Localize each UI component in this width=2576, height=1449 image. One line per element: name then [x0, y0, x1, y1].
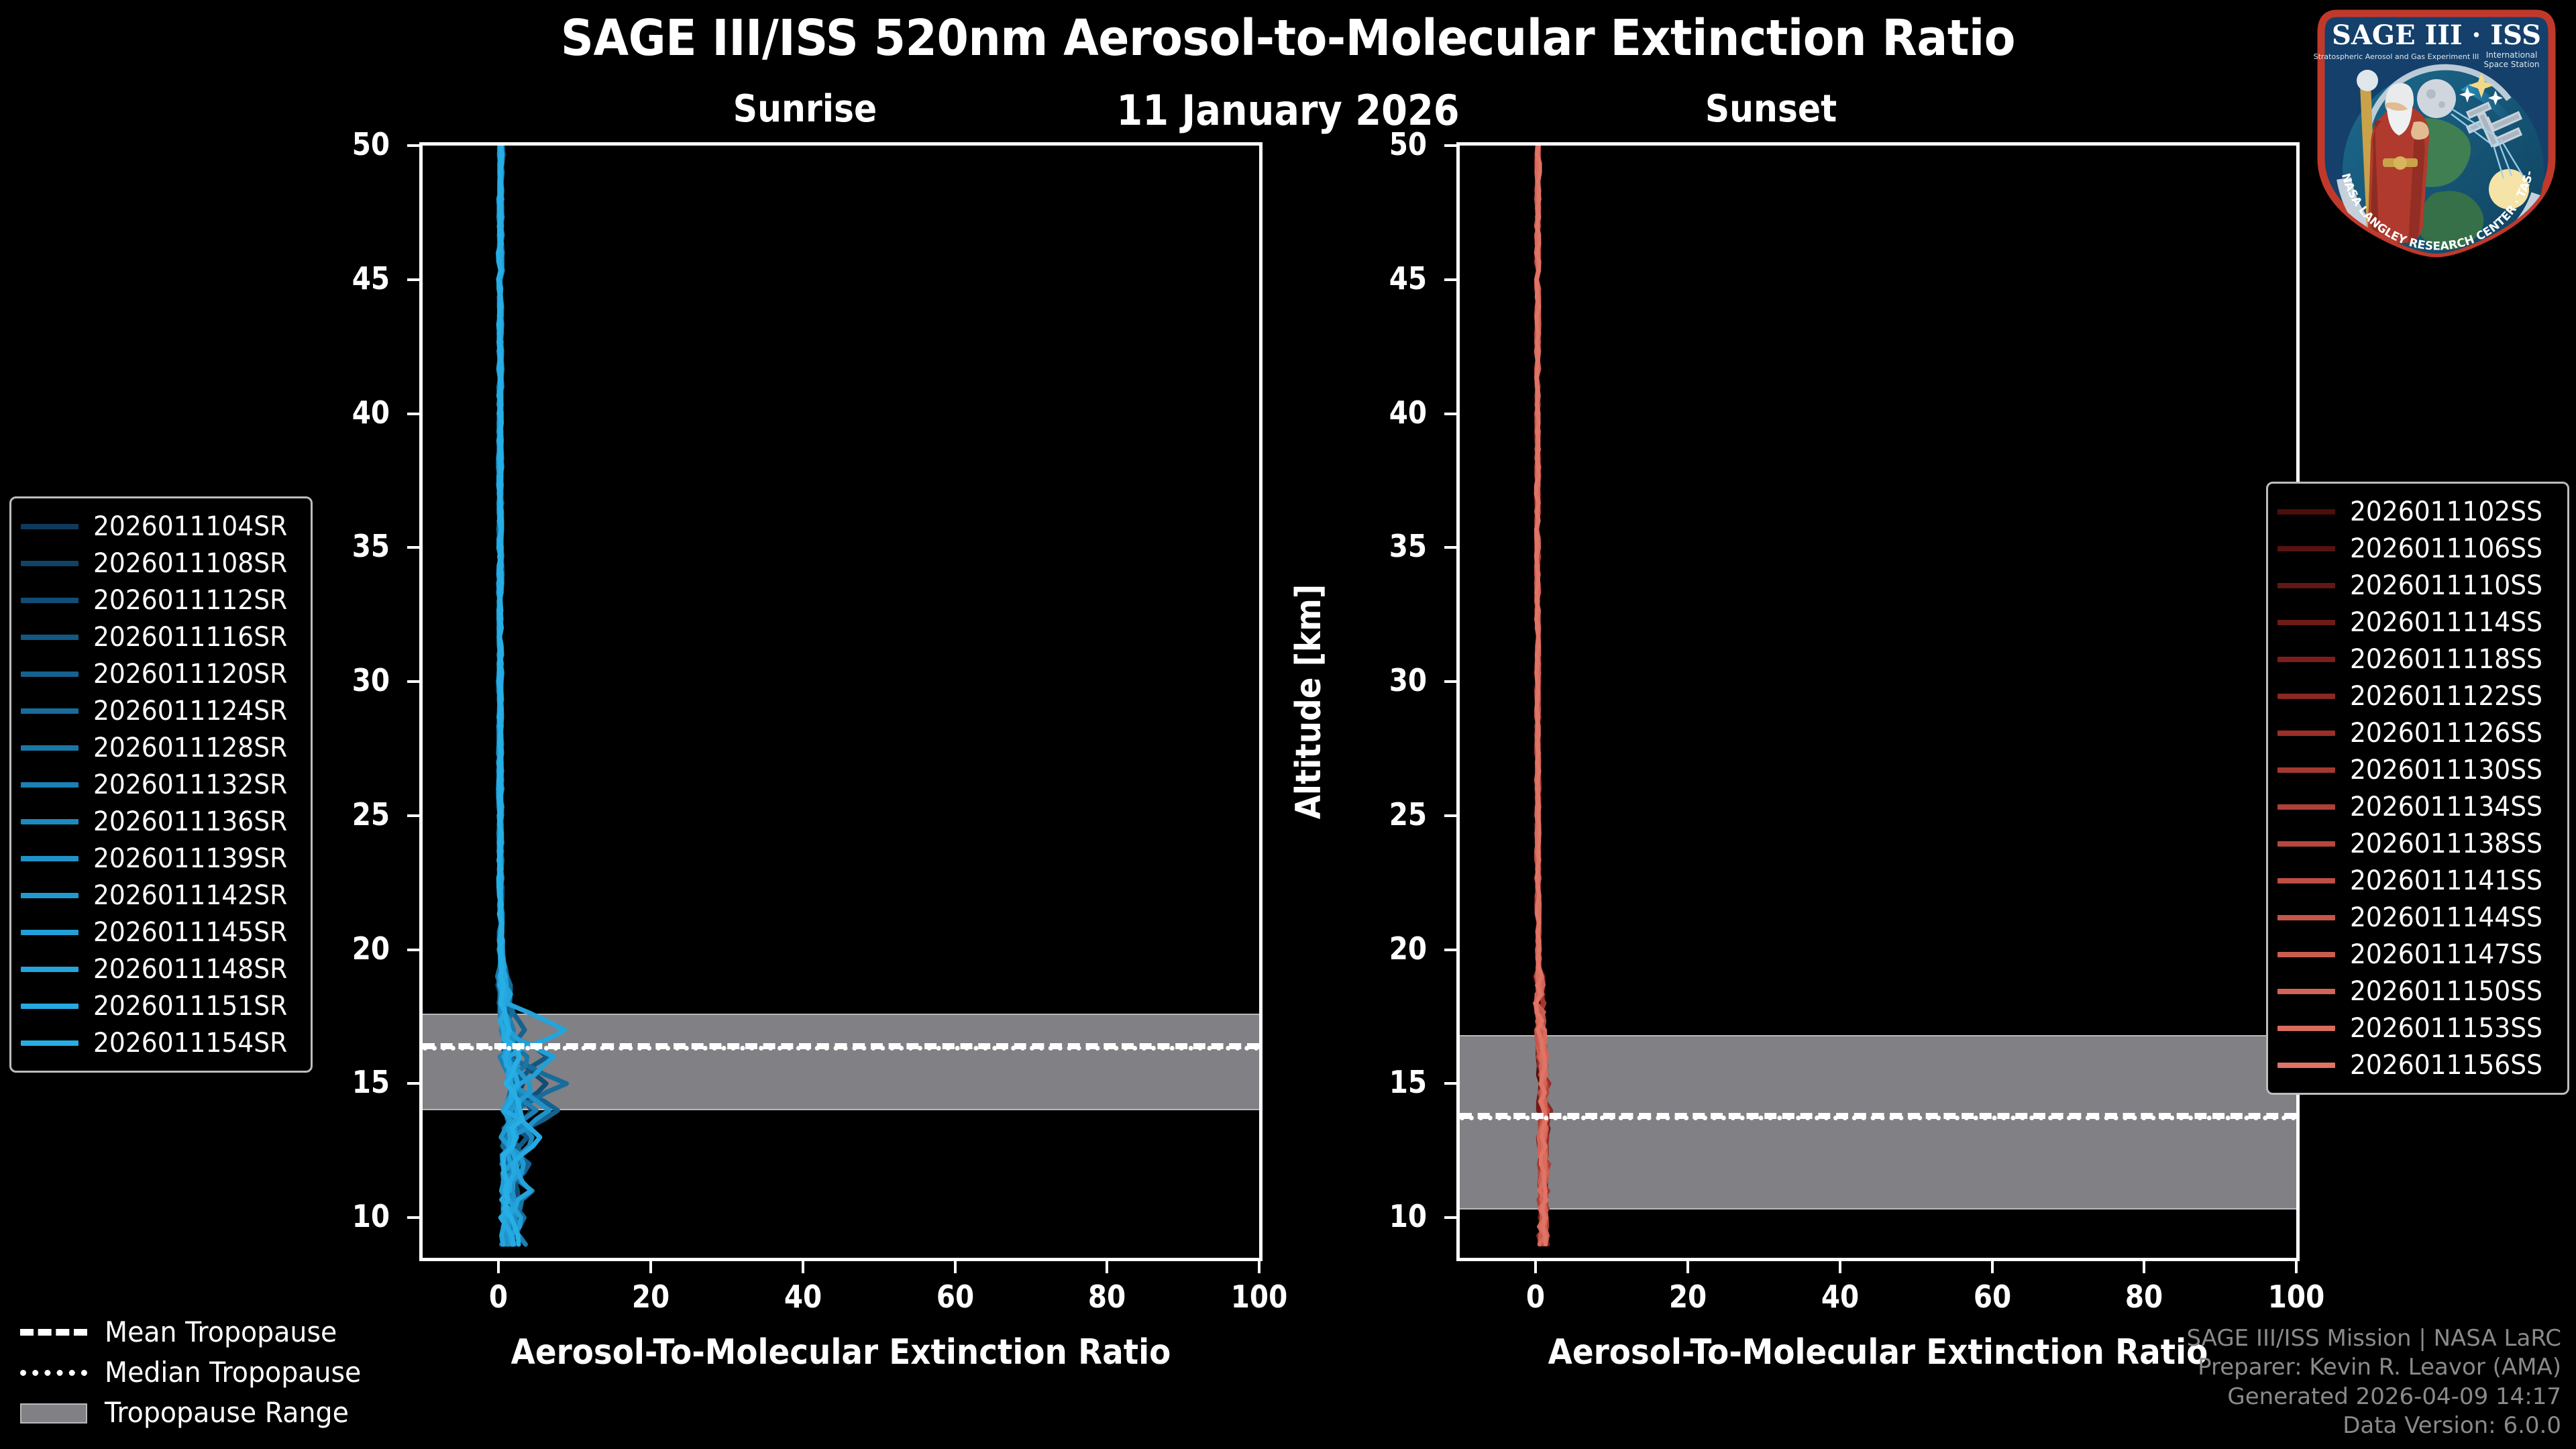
legend-color-swatch	[21, 745, 78, 751]
x-tickmark	[497, 1261, 500, 1273]
x-axis-title: Aerosol-To-Molecular Extinction Ratio	[1499, 1332, 2257, 1373]
y-tickmark	[1444, 949, 1456, 951]
y-tick-label: 35	[1329, 528, 1427, 564]
legend-item-label: 2026011139SR	[93, 843, 287, 874]
y-tick-label: 40	[292, 394, 390, 431]
legend-item-label: 2026011147SS	[2350, 939, 2542, 970]
x-axis-title: Aerosol-To-Molecular Extinction Ratio	[462, 1332, 1220, 1373]
x-tick-label: 40	[755, 1279, 850, 1315]
y-tick-label: 45	[292, 260, 390, 297]
legend-item-label: 2026011124SR	[93, 696, 287, 727]
median-tropopause-line	[1460, 1116, 2296, 1120]
legend-item[interactable]: 2026011148SR	[21, 951, 300, 987]
legend-color-swatch	[21, 930, 78, 935]
x-tick-label: 100	[2249, 1279, 2344, 1315]
legend-sunrise[interactable]: 2026011104SR2026011108SR2026011112SR2026…	[9, 496, 313, 1073]
series-layer	[1460, 146, 2296, 1258]
legend-color-swatch	[2277, 657, 2335, 662]
legend-color-swatch	[21, 708, 78, 714]
y-tick-label: 50	[1329, 126, 1427, 162]
legend-item-label: 2026011151SR	[93, 991, 287, 1022]
x-tick-label: 80	[2097, 1279, 2192, 1315]
legend-tropopause: Mean TropopauseMedian TropopauseTropopau…	[20, 1311, 396, 1432]
logo-title: SAGE III · ISS	[2332, 19, 2541, 51]
x-tick-label: 0	[451, 1279, 546, 1315]
legend-color-swatch	[21, 782, 78, 788]
legend-item[interactable]: 2026011134SS	[2277, 788, 2557, 825]
legend-item[interactable]: 2026011118SS	[2277, 641, 2557, 678]
legend-color-swatch	[21, 635, 78, 640]
credits-block: SAGE III/ISS Mission | NASA LaRC Prepare…	[2186, 1324, 2561, 1441]
x-tickmark	[1106, 1261, 1108, 1273]
legend-item[interactable]: 2026011151SR	[21, 987, 300, 1024]
legend-item-label: 2026011153SS	[2350, 1013, 2542, 1044]
x-tickmark	[649, 1261, 652, 1273]
y-tickmark	[1444, 680, 1456, 683]
y-tick-label: 30	[1329, 662, 1427, 698]
legend-item[interactable]: 2026011124SR	[21, 692, 300, 729]
legend-item[interactable]: 2026011138SS	[2277, 825, 2557, 862]
legend-item[interactable]: 2026011102SS	[2277, 493, 2557, 530]
legend-item-label: 2026011138SS	[2350, 828, 2542, 859]
legend-item-label: 2026011112SR	[93, 585, 287, 616]
y-tickmark	[1444, 144, 1456, 147]
legend-item[interactable]: 2026011132SR	[21, 766, 300, 803]
x-tick-label: 60	[908, 1279, 1002, 1315]
y-tickmark	[407, 413, 419, 415]
legend-item[interactable]: 2026011142SR	[21, 877, 300, 914]
x-tick-label: 40	[1792, 1279, 1887, 1315]
legend-item-label: 2026011134SS	[2350, 792, 2542, 822]
series-line	[498, 146, 540, 1244]
y-tickmark	[1444, 413, 1456, 415]
plot-area-sunrise	[419, 142, 1263, 1261]
x-tickmark	[1686, 1261, 1689, 1273]
legend-item[interactable]: 2026011130SS	[2277, 751, 2557, 788]
legend-item-label: 2026011150SS	[2350, 976, 2542, 1007]
x-tickmark	[1839, 1261, 1841, 1273]
legend-item[interactable]: 2026011150SS	[2277, 973, 2557, 1010]
sage-iii-iss-logo-icon: SAGE III · ISS Stratospheric Aerosol and…	[2302, 3, 2571, 258]
legend-color-swatch	[2277, 841, 2335, 847]
legend-item[interactable]: 2026011122SS	[2277, 678, 2557, 714]
logo-subtitle-left: Stratospheric Aerosol and Gas Experiment…	[2314, 52, 2479, 61]
x-tickmark	[1534, 1261, 1537, 1273]
legend-color-swatch	[2277, 767, 2335, 773]
legend-item[interactable]: 2026011141SS	[2277, 862, 2557, 899]
legend-item[interactable]: 2026011139SR	[21, 840, 300, 877]
dotted-line-icon	[20, 1363, 87, 1381]
legend-item-label: 2026011141SS	[2350, 865, 2542, 896]
legend-item[interactable]: 2026011144SS	[2277, 899, 2557, 936]
y-axis-title: Altitude [km]	[1289, 575, 1329, 828]
legend-item-label: 2026011104SR	[93, 511, 287, 542]
y-tickmark	[407, 814, 419, 817]
median-tropopause-line	[423, 1046, 1259, 1051]
x-tickmark	[1991, 1261, 1994, 1273]
legend-item-label: 2026011122SS	[2350, 681, 2542, 712]
y-tickmark	[1444, 546, 1456, 549]
x-tickmark	[2295, 1261, 2298, 1273]
y-tick-label: 50	[292, 126, 390, 162]
series-layer	[423, 146, 1259, 1258]
credit-generated: Generated 2026-04-09 14:17	[2186, 1383, 2561, 1412]
legend-color-swatch	[21, 819, 78, 824]
legend-item-label: 2026011148SR	[93, 954, 287, 985]
plot-area-sunset	[1456, 142, 2300, 1261]
tropopause-legend-item: Mean Tropopause	[20, 1311, 396, 1352]
credit-data-version: Data Version: 6.0.0	[2186, 1411, 2561, 1441]
legend-color-swatch	[21, 1040, 78, 1046]
y-tickmark	[1444, 814, 1456, 817]
legend-item-label: 2026011156SS	[2350, 1050, 2542, 1081]
x-tick-label: 60	[1945, 1279, 2039, 1315]
legend-item[interactable]: 2026011114SS	[2277, 604, 2557, 641]
y-tickmark	[407, 949, 419, 951]
page-title: SAGE III/ISS 520nm Aerosol-to-Molecular …	[103, 9, 2473, 67]
legend-item-label: 2026011126SS	[2350, 718, 2542, 749]
legend-item[interactable]: 2026011126SS	[2277, 714, 2557, 751]
legend-item-label: 2026011128SR	[93, 733, 287, 763]
y-tick-label: 10	[292, 1198, 390, 1234]
legend-color-swatch	[21, 1004, 78, 1009]
legend-item[interactable]: 2026011145SR	[21, 914, 300, 951]
y-tickmark	[407, 1216, 419, 1219]
legend-color-swatch	[2277, 731, 2335, 736]
legend-color-swatch	[21, 856, 78, 861]
x-tickmark	[802, 1261, 804, 1273]
y-tickmark	[407, 144, 419, 147]
legend-item[interactable]: 2026011108SR	[21, 545, 300, 582]
y-tickmark	[407, 1082, 419, 1085]
x-tick-label: 0	[1489, 1279, 1583, 1315]
credit-preparer: Preparer: Kevin R. Leavor (AMA)	[2186, 1353, 2561, 1383]
legend-color-swatch	[2277, 878, 2335, 883]
y-tickmark	[1444, 1082, 1456, 1085]
legend-color-swatch	[2277, 1026, 2335, 1031]
legend-sunset[interactable]: 2026011102SS2026011106SS2026011110SS2026…	[2266, 482, 2569, 1095]
legend-color-swatch	[21, 672, 78, 677]
legend-color-swatch	[21, 561, 78, 566]
legend-item[interactable]: 2026011116SR	[21, 619, 300, 655]
legend-item-label: 2026011102SS	[2350, 496, 2542, 527]
legend-color-swatch	[2277, 620, 2335, 625]
logo-subtitle-right-1: International	[2486, 50, 2538, 60]
x-tick-label: 100	[1212, 1279, 1307, 1315]
legend-item-label: 2026011106SS	[2350, 533, 2542, 564]
legend-item-label: 2026011118SS	[2350, 644, 2542, 675]
legend-item[interactable]: 2026011104SR	[21, 508, 300, 545]
x-tick-label: 20	[1641, 1279, 1735, 1315]
tropopause-legend-item: Median Tropopause	[20, 1352, 396, 1392]
y-tick-label: 40	[1329, 394, 1427, 431]
figure-subtitle-date: 11 January 2026	[129, 86, 2447, 135]
legend-color-swatch	[2277, 952, 2335, 957]
y-tick-label: 10	[1329, 1198, 1427, 1234]
legend-color-swatch	[21, 893, 78, 898]
y-tick-label: 25	[1329, 796, 1427, 833]
x-tickmark	[954, 1261, 957, 1273]
credit-mission: SAGE III/ISS Mission | NASA LaRC	[2186, 1324, 2561, 1354]
y-tick-label: 45	[1329, 260, 1427, 297]
legend-color-swatch	[2277, 804, 2335, 810]
tropopause-legend-label: Mean Tropopause	[105, 1316, 337, 1348]
legend-color-swatch	[2277, 694, 2335, 699]
panel-label-sunset: Sunset	[1590, 87, 1952, 131]
y-tickmark	[407, 680, 419, 683]
legend-item-label: 2026011145SR	[93, 917, 287, 948]
tropopause-legend-label: Median Tropopause	[105, 1356, 361, 1389]
legend-item[interactable]: 2026011120SR	[21, 655, 300, 692]
tropopause-legend-item: Tropopause Range	[20, 1392, 396, 1432]
legend-item-label: 2026011120SR	[93, 659, 287, 690]
legend-color-swatch	[2277, 989, 2335, 994]
y-tickmark	[407, 278, 419, 281]
legend-item[interactable]: 2026011128SR	[21, 729, 300, 766]
logo-subtitle-right-2: Space Station	[2483, 60, 2539, 69]
legend-item-label: 2026011130SS	[2350, 755, 2542, 786]
y-tick-label: 20	[1329, 930, 1427, 967]
figure-root: SAGE III/ISS 520nm Aerosol-to-Molecular …	[0, 0, 2576, 1449]
legend-item-label: 2026011154SR	[93, 1028, 287, 1059]
legend-color-swatch	[2277, 1063, 2335, 1068]
y-tickmark	[1444, 1216, 1456, 1219]
legend-item-label: 2026011144SS	[2350, 902, 2542, 933]
legend-color-swatch	[2277, 583, 2335, 588]
legend-item[interactable]: 2026011153SS	[2277, 1010, 2557, 1046]
panel-label-sunrise: Sunrise	[624, 87, 986, 131]
y-tickmark	[1444, 278, 1456, 281]
x-tick-label: 80	[1060, 1279, 1155, 1315]
x-tickmark	[2143, 1261, 2145, 1273]
x-tick-label: 20	[604, 1279, 698, 1315]
legend-item[interactable]: 2026011136SR	[21, 803, 300, 840]
dashed-line-icon	[20, 1323, 87, 1340]
legend-item-label: 2026011114SS	[2350, 607, 2542, 638]
legend-item[interactable]: 2026011147SS	[2277, 936, 2557, 973]
legend-item-label: 2026011136SR	[93, 806, 287, 837]
legend-item-label: 2026011132SR	[93, 769, 287, 800]
legend-item-label: 2026011110SS	[2350, 570, 2542, 601]
legend-color-swatch	[2277, 509, 2335, 515]
legend-color-swatch	[21, 598, 78, 603]
x-tickmark	[1258, 1261, 1260, 1273]
legend-item[interactable]: 2026011154SR	[21, 1024, 300, 1061]
range-swatch-icon	[20, 1403, 87, 1421]
tropopause-legend-label: Tropopause Range	[105, 1396, 349, 1429]
legend-color-swatch	[2277, 546, 2335, 551]
legend-item-label: 2026011116SR	[93, 622, 287, 653]
legend-item-label: 2026011142SR	[93, 880, 287, 911]
legend-color-swatch	[21, 524, 78, 529]
legend-color-swatch	[2277, 915, 2335, 920]
legend-item[interactable]: 2026011112SR	[21, 582, 300, 619]
legend-color-swatch	[21, 967, 78, 972]
legend-item[interactable]: 2026011156SS	[2277, 1046, 2557, 1083]
y-tickmark	[407, 546, 419, 549]
legend-item[interactable]: 2026011110SS	[2277, 567, 2557, 604]
legend-item-label: 2026011108SR	[93, 548, 287, 579]
legend-item[interactable]: 2026011106SS	[2277, 530, 2557, 567]
y-tick-label: 15	[1329, 1064, 1427, 1100]
